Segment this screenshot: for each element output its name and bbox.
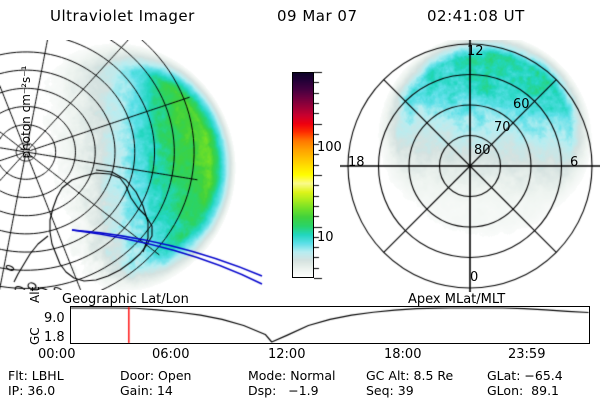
status-dsp: Dsp: −1.9 — [248, 383, 319, 398]
colorbar-axis-label: photon cm⁻²s⁻¹ — [19, 52, 33, 172]
status-glat: GLat: −65.4 — [487, 368, 563, 383]
orbit-ylabel-gc: GC — [28, 327, 42, 345]
colorbar-tick-100: 100 — [317, 140, 342, 155]
orbit-xtick-2: 12:00 — [268, 347, 305, 362]
geographic-aurora-image — [0, 40, 268, 290]
orbit-xtick-1: 06:00 — [152, 347, 189, 362]
colorbar-ticks — [314, 69, 328, 281]
status-door: Door: Open — [120, 368, 191, 383]
status-seq: Seq: 39 — [366, 383, 414, 398]
status-mode: Mode: Normal — [248, 368, 336, 383]
status-flt: Flt: LBHL — [8, 368, 64, 383]
orbit-ytick-high: 9.0 — [44, 311, 65, 326]
magnetic-polar-aurora-image — [340, 40, 600, 292]
mlat-label-60: 60 — [513, 97, 530, 112]
orbit-ytick-low: 1.8 — [44, 330, 65, 345]
mlt-label-18: 18 — [348, 155, 365, 170]
status-ip: IP: 36.0 — [8, 383, 55, 398]
magnetic-panel-caption: Apex MLat/MLT — [408, 292, 505, 307]
orbit-xtick-4: 23:59 — [508, 347, 545, 362]
mlat-label-70: 70 — [494, 120, 511, 135]
orbit-ylabel-alt: Alt — [28, 287, 42, 303]
orbit-altitude-trace — [70, 306, 590, 344]
status-gain: Gain: 14 — [120, 383, 173, 398]
mlat-label-80: 80 — [474, 143, 491, 158]
status-glon: GLon: 89.1 — [487, 383, 559, 398]
status-gc-alt: GC Alt: 8.5 Re — [366, 368, 453, 383]
observation-time: 02:41:08 UT — [427, 7, 525, 25]
mlt-label-6: 6 — [570, 155, 578, 170]
geographic-panel-caption: Geographic Lat/Lon — [62, 292, 189, 307]
page-title: Ultraviolet Imager — [50, 7, 195, 25]
uvi-screenshot-root: Ultraviolet Imager 09 Mar 07 02:41:08 UT… — [0, 0, 600, 400]
colorbar — [292, 72, 314, 278]
observation-date: 09 Mar 07 — [277, 7, 358, 25]
mlt-label-12: 12 — [467, 44, 484, 59]
mlt-label-0: 0 — [470, 270, 478, 285]
orbit-xtick-3: 18:00 — [384, 347, 421, 362]
colorbar-tick-10: 10 — [317, 230, 334, 245]
orbit-xtick-0: 00:00 — [38, 347, 75, 362]
